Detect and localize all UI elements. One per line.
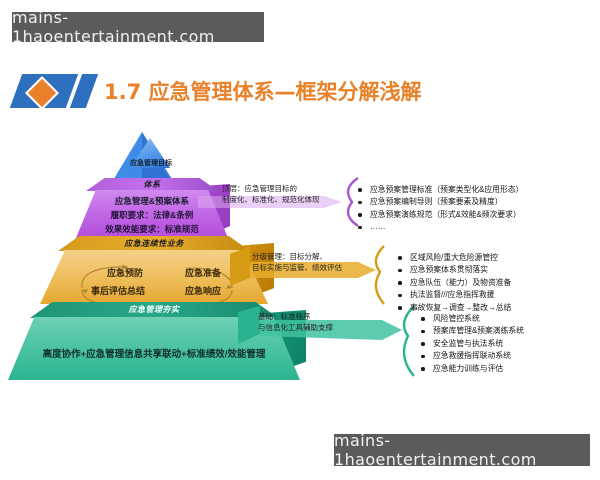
annotation-top-note-line-1: 顶层：应急管理目标的: [222, 184, 320, 195]
list-item: ……: [357, 221, 523, 233]
tier-3-cycle-item-4: 事后评估总结: [76, 284, 160, 297]
watermark-bottom: mains-1haoentertainment.com: [334, 434, 590, 466]
pyramid-tier-1: 应急管理目标: [112, 132, 190, 182]
annotation-middle-note-line-2: 目标实施与监管、绩效评估: [252, 263, 342, 274]
page-title: 1.7 应急管理体系—框架分解浅解: [104, 76, 422, 106]
annotation-top-note: 顶层：应急管理目标的 制度化、标准化、规范化体现: [222, 184, 320, 206]
list-item: 执法监督///应急指挥救援: [397, 289, 511, 301]
watermark-top: mains-1haoentertainment.com: [12, 12, 264, 42]
annotation-bottom-note-line-1: 基础：标准程序: [258, 312, 333, 323]
annotation-top-note-line-2: 制度化、标准化、规范化体现: [222, 195, 320, 206]
list-item: 应急预案管理标准（预案类型化&应用形态）: [357, 184, 523, 196]
annotation-middle-note: 分级管理：目标分解、 目标实施与监管、绩效评估: [252, 252, 342, 274]
annotation-bottom-note: 基础：标准程序 与信息化工具辅助支撑: [258, 312, 333, 334]
slide-canvas: mains-1haoentertainment.com mains-1haoen…: [0, 0, 600, 480]
list-item: 安全监管与执法系统: [420, 338, 524, 350]
annotation-middle-bullets: 区域风险/重大危险源管控 应急预案体系贯彻落实 应急队伍（能力）及物资准备 执法…: [397, 252, 511, 314]
annotation-bottom-bullets: 风险管控系统 预案库管理&预案演练系统 安全监管与执法系统 应急救援指挥联动系统…: [420, 313, 524, 375]
list-item: 应急队伍（能力）及物资准备: [397, 277, 511, 289]
annotation-top-bullets: 应急预案管理标准（预案类型化&应用形态） 应急预案编制导则（预案要素及精度） 应…: [357, 184, 523, 234]
list-item: 应急预案演练规范（形式&效能&频次要求）: [357, 209, 523, 221]
annotation-middle-note-line-1: 分级管理：目标分解、: [252, 252, 342, 263]
tier-3-top-face: [58, 236, 250, 251]
list-item: 风险管控系统: [420, 313, 524, 325]
list-item: 预案库管理&预案演练系统: [420, 325, 524, 337]
list-item: 应急能力训练与评估: [420, 363, 524, 375]
list-item: 应急预案体系贯彻落实: [397, 264, 511, 276]
title-badge-icon: [16, 74, 100, 108]
list-item: 应急救援指挥联动系统: [420, 350, 524, 362]
list-item: 应急预案编制导则（预案要素及精度）: [357, 196, 523, 208]
tier-3-cycle-item-1: 应急预防: [90, 266, 160, 279]
slide-title-row: 1.7 应急管理体系—框架分解浅解: [16, 74, 422, 108]
annotation-bottom-note-line-2: 与信息化工具辅助支撑: [258, 323, 333, 334]
list-item: 区域风险/重大危险源管控: [397, 252, 511, 264]
